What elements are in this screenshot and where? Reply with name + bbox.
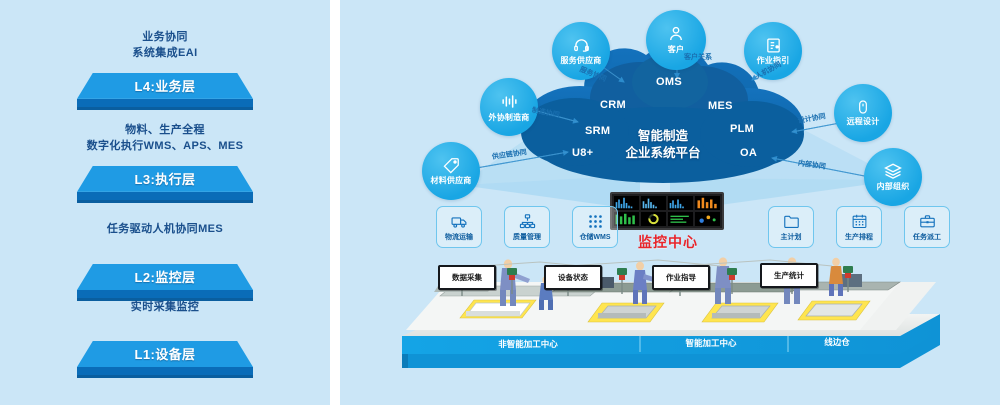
caption-line: 系统集成EAI [0, 46, 330, 62]
dash-cell [641, 212, 666, 226]
waveform-icon [500, 92, 519, 111]
node-remote-design[interactable]: 远程设计 [834, 84, 892, 142]
layer-group-l2: 任务驱动人机协同MES L2:监控层 [0, 222, 330, 301]
layer-label-l1: L1:设备层 [135, 344, 196, 363]
chip-label: 生产排程 [845, 232, 873, 242]
node-material-supplier[interactable]: 材料供应商 [422, 142, 480, 200]
caption-line: 任务驱动人机协同MES [0, 222, 330, 238]
user-icon [667, 25, 685, 43]
chip-quality-management[interactable]: 质量管理 [504, 206, 550, 248]
layer-block-l4[interactable]: L4:业务层 [0, 73, 330, 110]
maturity-layers-panel: 业务协同 系统集成EAI L4:业务层 物料、生产全程 数字化执行WMS、APS… [0, 0, 330, 405]
zone-label-non-smart-center: 非智能加工中心 [448, 338, 608, 350]
layer-group-l1: 实时采集监控 L1:设备层 [0, 300, 330, 378]
signboard-work-guidance[interactable]: 作业指导 [652, 265, 710, 290]
folder-icon [783, 213, 800, 230]
node-internal-organization[interactable]: 内部组织 [864, 148, 922, 206]
caption-line: 实时采集监控 [0, 300, 330, 316]
node-label: 材料供应商 [431, 175, 472, 186]
signboard-production-statistics[interactable]: 生产统计 [760, 263, 818, 288]
hierarchy-icon [519, 213, 536, 230]
node-label: 客户 [668, 44, 684, 55]
node-label: 外协制造商 [489, 112, 530, 123]
dash-cell [695, 196, 720, 210]
briefcase-icon [919, 213, 936, 230]
chip-warehouse-wms[interactable]: 仓储WMS [572, 206, 618, 248]
dash-cell [668, 212, 693, 226]
chip-label: 仓储WMS [579, 232, 610, 242]
signboard-label: 生产统计 [774, 270, 804, 281]
caption-line: 物料、生产全程 [0, 123, 330, 139]
layer-block-l3[interactable]: L3:执行层 [0, 166, 330, 203]
chip-master-plan[interactable]: 主计划 [768, 206, 814, 248]
chip-label: 任务派工 [913, 232, 941, 242]
panel-divider [330, 0, 340, 405]
signboard-label: 作业指导 [666, 272, 696, 283]
diagram-root: 业务协同 系统集成EAI L4:业务层 物料、生产全程 数字化执行WMS、APS… [0, 0, 1000, 405]
signboard-data-collection[interactable]: 数据采集 [438, 265, 496, 290]
chip-label: 物流运输 [445, 232, 473, 242]
mouse-icon [855, 99, 871, 115]
signboard-label: 数据采集 [452, 272, 482, 283]
tag-icon [443, 157, 460, 174]
calendar-icon [851, 213, 868, 230]
chip-logistics-transport[interactable]: 物流运输 [436, 206, 482, 248]
zone-label-line-side-warehouse: 线边仓 [792, 336, 882, 348]
chip-task-dispatch[interactable]: 任务派工 [904, 206, 950, 248]
layer-label-l2: L2:监控层 [135, 267, 196, 286]
signboard-equipment-status[interactable]: 设备状态 [544, 265, 602, 290]
signboard-label: 设备状态 [558, 272, 588, 283]
layer-caption-l1: 实时采集监控 [0, 300, 330, 316]
edge-label-customer-relation: 客户关系 [684, 52, 712, 62]
dash-cell [695, 212, 720, 226]
chip-production-scheduling[interactable]: 生产排程 [836, 206, 882, 248]
layers-icon [884, 162, 902, 180]
caption-line: 业务协同 [0, 30, 330, 46]
headset-icon [573, 37, 590, 54]
layer-block-l2[interactable]: L2:监控层 [0, 264, 330, 301]
monitoring-center-title: 监控中心 [620, 232, 716, 252]
node-outsourced-manufacturer[interactable]: 外协制造商 [480, 78, 538, 136]
chip-label: 主计划 [781, 232, 802, 242]
layer-caption-l4: 业务协同 系统集成EAI [0, 30, 330, 62]
dash-cell [668, 196, 693, 210]
grid-dots-icon [587, 213, 604, 230]
smart-manufacturing-panel: 智能制造 企业系统平台 OMS CRM MES SRM PLM U8+ OA 客… [340, 0, 1000, 405]
dash-cell [614, 196, 639, 210]
layer-caption-l3: 物料、生产全程 数字化执行WMS、APS、MES [0, 123, 330, 155]
layer-block-l1[interactable]: L1:设备层 [0, 341, 330, 378]
layer-caption-l2: 任务驱动人机协同MES [0, 222, 330, 238]
chip-label: 质量管理 [513, 232, 541, 242]
layer-label-l4: L4:业务层 [135, 76, 196, 95]
document-icon [765, 37, 782, 54]
layer-group-l4: 业务协同 系统集成EAI L4:业务层 [0, 30, 330, 110]
caption-line: 数字化执行WMS、APS、MES [0, 139, 330, 155]
dash-cell [641, 196, 666, 210]
node-label: 内部组织 [877, 181, 910, 192]
monitoring-dashboard[interactable] [610, 192, 724, 230]
layer-label-l3: L3:执行层 [135, 169, 196, 188]
zone-label-smart-center: 智能加工中心 [646, 337, 776, 349]
node-label: 远程设计 [847, 116, 880, 127]
layer-group-l3: 物料、生产全程 数字化执行WMS、APS、MES L3:执行层 [0, 123, 330, 203]
truck-icon [451, 213, 468, 230]
